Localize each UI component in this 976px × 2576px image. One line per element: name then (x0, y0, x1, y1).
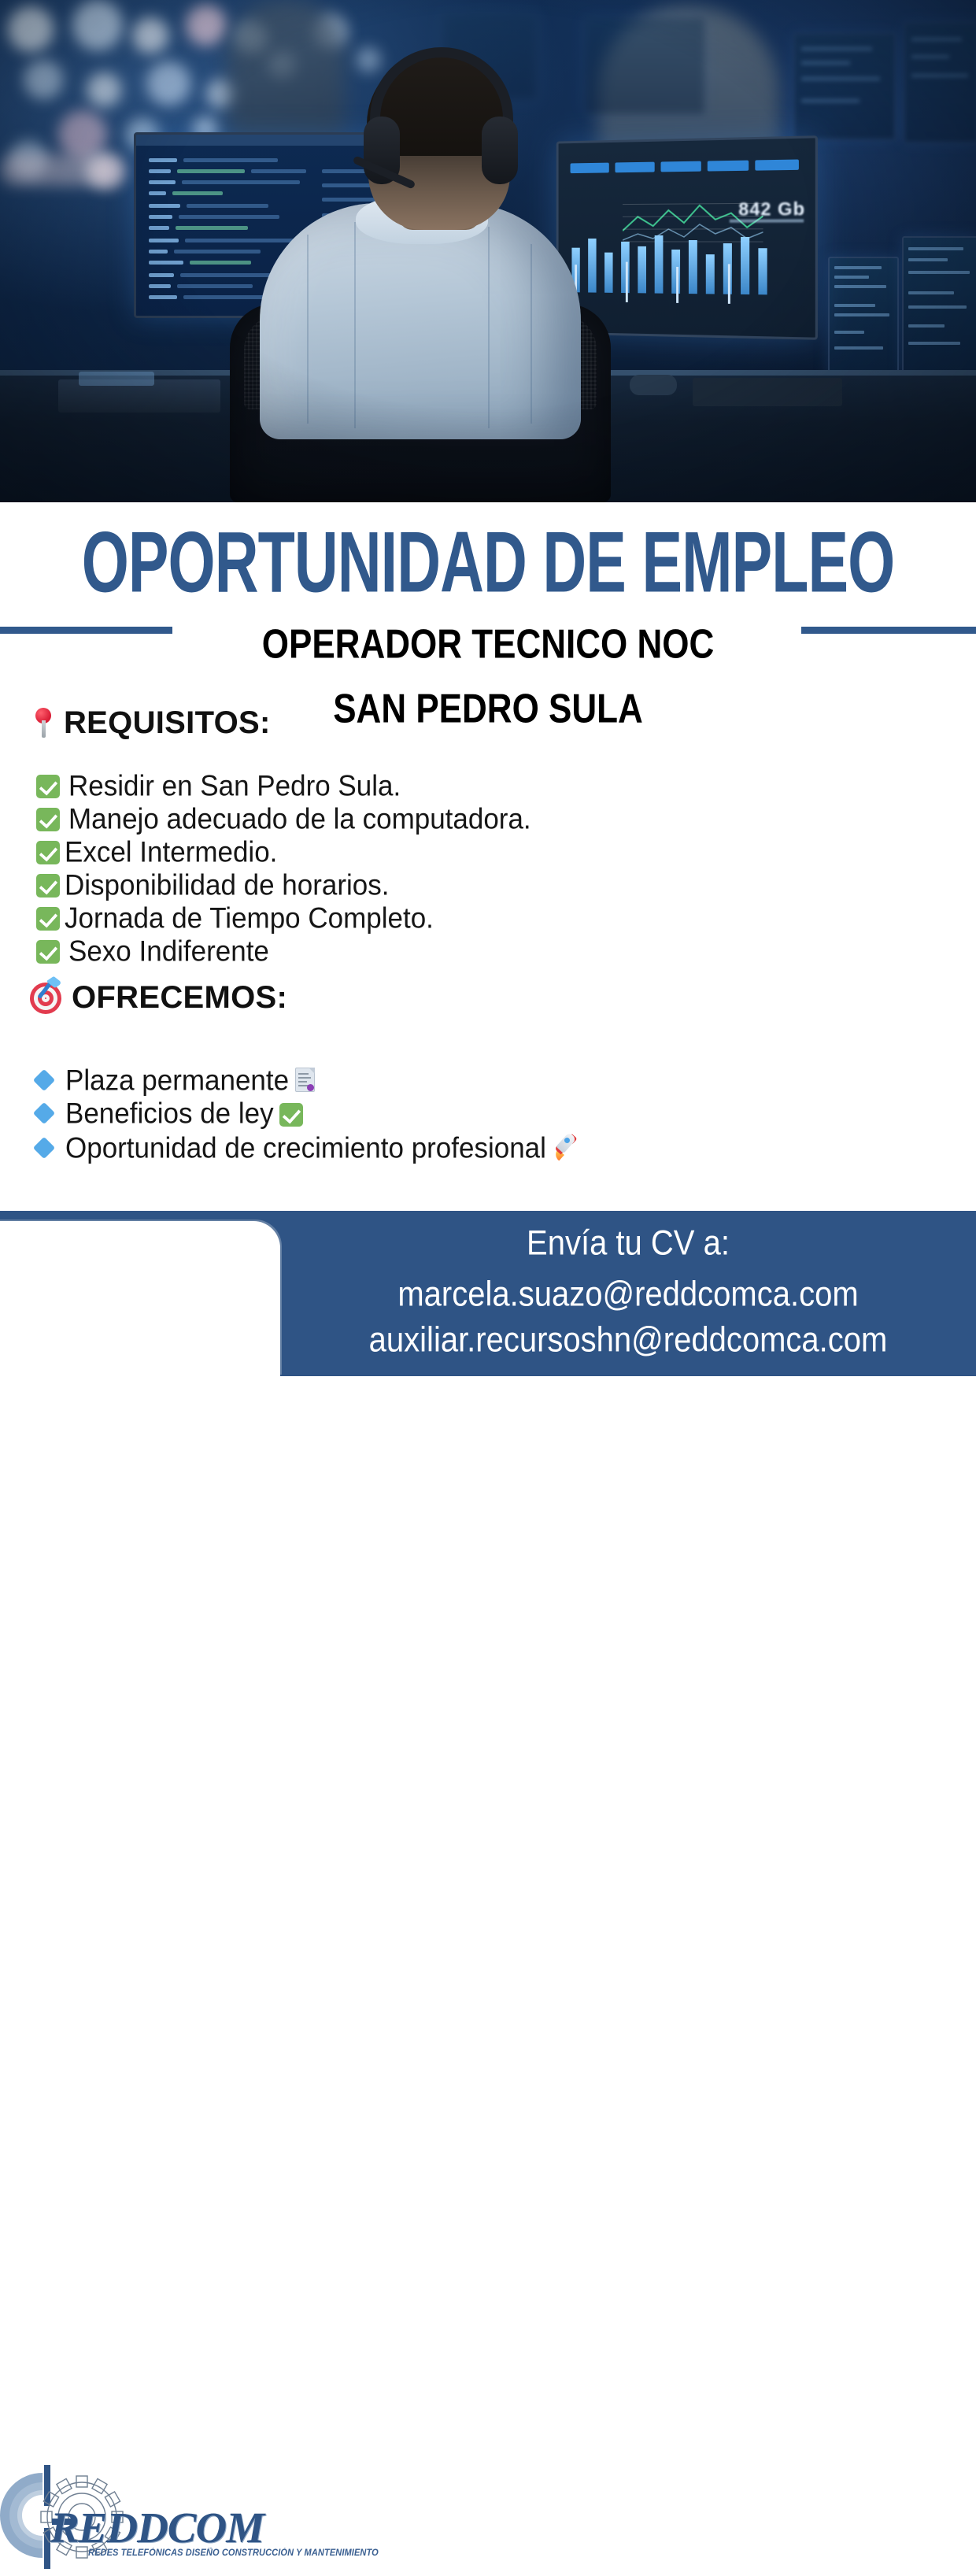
requirements-heading: REQUISITOS: (33, 705, 271, 741)
requirement-text: Disponibilidad de horarios. (65, 868, 389, 902)
photo-vignette (0, 0, 976, 502)
dart-target-icon (30, 983, 61, 1014)
list-item: Plaza permanente (22, 1064, 579, 1097)
requirement-text: Sexo Indiferente (68, 935, 269, 968)
email-primary[interactable]: marcela.suazo@reddcomca.com (397, 1269, 858, 1319)
control-room-scene: 842 Gb (0, 0, 976, 502)
reddcom-logo: REDDCOM REDES TELEFÓNICAS DISEÑO CONSTRU… (0, 2462, 261, 2572)
divider-line-left (0, 627, 172, 634)
white-check-mark-icon (36, 874, 60, 898)
white-check-mark-icon (36, 808, 60, 831)
divider-line-right (801, 627, 976, 634)
white-check-mark-icon (36, 775, 60, 798)
title-block: OPORTUNIDAD DE EMPLEO OPERADOR TECNICO N… (0, 502, 976, 727)
list-item: Jornada de Tiempo Completo. (36, 902, 531, 935)
requirement-text: Residir en San Pedro Sula. (68, 769, 401, 803)
white-check-mark-icon (36, 907, 60, 931)
cta-label: Envía tu CV a: (527, 1223, 730, 1263)
list-item: Excel Intermedio. (36, 836, 531, 868)
requirement-text: Jornada de Tiempo Completo. (65, 901, 434, 935)
white-check-mark-icon (36, 940, 60, 964)
hero-photo: 842 Gb (0, 0, 976, 502)
page-title: OPORTUNIDAD DE EMPLEO (39, 518, 937, 606)
email-secondary[interactable]: auxiliar.recursoshn@reddcomca.com (369, 1315, 888, 1364)
list-item: Oportunidad de crecimiento profesional (22, 1131, 579, 1164)
offer-text: Oportunidad de crecimiento profesional (65, 1131, 546, 1165)
rocket-icon (553, 1132, 579, 1159)
list-item: Disponibilidad de horarios. (36, 869, 531, 901)
requirement-text: Manejo adecuado de la computadora. (68, 802, 531, 836)
white-check-mark-icon (36, 841, 60, 864)
list-item: Beneficios de ley (22, 1097, 579, 1130)
offer-text: Plaza permanente (65, 1064, 289, 1097)
blue-diamond-icon (33, 1102, 55, 1124)
requirements-list: Residir en San Pedro Sula. Manejo adecua… (36, 770, 531, 968)
contact-block: Envía tu CV a: marcela.suazo@reddcomca.c… (280, 1211, 976, 1376)
requirements-heading-label: REQUISITOS: (64, 705, 271, 741)
offers-heading: OFRECEMOS: (30, 980, 287, 1016)
blue-diamond-icon (33, 1069, 55, 1091)
offers-list: Plaza permanente Beneficios de ley Oport… (22, 1064, 579, 1165)
logo-tagline: REDES TELEFÓNICAS DISEÑO CONSTRUCCIÓN Y … (88, 2548, 379, 2558)
list-item: Sexo Indiferente (36, 935, 531, 968)
round-pushpin-icon (33, 708, 54, 739)
page-document-icon (295, 1068, 315, 1092)
blue-diamond-icon (33, 1137, 55, 1159)
requirement-text: Excel Intermedio. (65, 835, 277, 869)
logo-card: REDDCOM REDES TELEFÓNICAS DISEÑO CONSTRU… (0, 1221, 280, 1376)
list-item: Residir en San Pedro Sula. (36, 770, 531, 802)
white-check-mark-icon (279, 1103, 303, 1127)
offers-heading-label: OFRECEMOS: (72, 980, 287, 1016)
logo-wordmark: REDDCOM (50, 2503, 264, 2552)
offer-text: Beneficios de ley (65, 1097, 274, 1131)
list-item: Manejo adecuado de la computadora. (36, 803, 531, 835)
